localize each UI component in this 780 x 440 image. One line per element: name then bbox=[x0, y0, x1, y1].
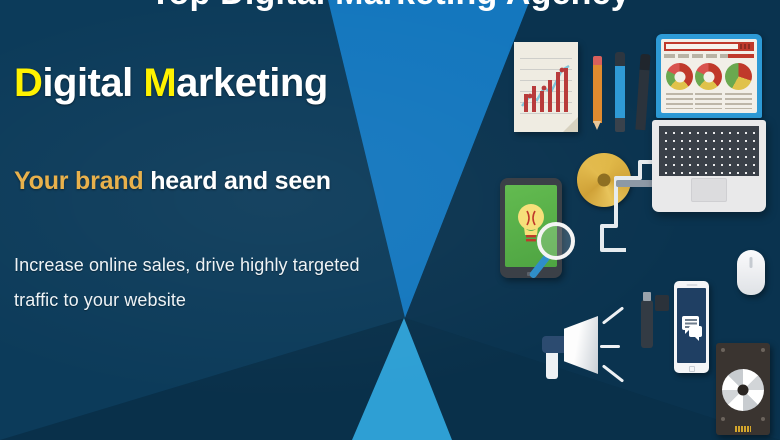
dashboard-text-3 bbox=[725, 93, 752, 109]
hdd-screw-tr bbox=[761, 348, 765, 352]
pencil-eraser bbox=[593, 56, 602, 65]
hdd-screw-br bbox=[761, 417, 765, 421]
megaphone-wave-2 bbox=[600, 345, 620, 348]
pencil-icon bbox=[593, 56, 602, 130]
blue-pen-end bbox=[615, 118, 625, 132]
black-pen-cap bbox=[640, 54, 651, 71]
banner-stage: Top Digital Marketing Agency Digital Mar… bbox=[0, 0, 780, 440]
laptop-keyboard bbox=[659, 126, 759, 176]
body-copy: Increase online sales, drive highly targ… bbox=[14, 248, 394, 318]
mouse-scroll-wheel bbox=[750, 257, 753, 268]
phone-home-button bbox=[689, 366, 695, 372]
body-line-1: Increase online sales, drive highly targ… bbox=[14, 248, 394, 283]
dashboard-toolbar-buttons bbox=[740, 44, 752, 49]
usb-cap-icon bbox=[655, 295, 669, 311]
magnifier-lens bbox=[537, 222, 575, 260]
magnifier-icon bbox=[537, 222, 585, 284]
title-part-1: igital bbox=[42, 61, 143, 105]
hdd-screw-tl bbox=[721, 348, 725, 352]
pie-chart-3 bbox=[725, 63, 752, 90]
title-highlight-m: M bbox=[143, 61, 176, 105]
usb-drive-icon bbox=[641, 300, 653, 348]
megaphone-wave-1 bbox=[602, 306, 624, 324]
laptop-trackpad bbox=[691, 178, 727, 202]
hdd-screw-bl bbox=[721, 417, 725, 421]
dashboard-text-blocks bbox=[665, 93, 753, 109]
megaphone-wave-3 bbox=[602, 364, 624, 382]
black-pen-body bbox=[635, 70, 649, 131]
blue-pen-icon bbox=[615, 52, 625, 132]
dashboard-url-field bbox=[666, 44, 738, 49]
usb-connector bbox=[643, 292, 651, 301]
chart-paper-icon bbox=[514, 42, 578, 132]
copy-block: Digital Marketing Your brand heard and s… bbox=[14, 62, 414, 318]
paper-bar-chart bbox=[522, 64, 570, 112]
hdd-platter bbox=[722, 369, 764, 411]
pencil-body bbox=[593, 65, 602, 123]
title-highlight-d: D bbox=[14, 61, 42, 105]
laptop-icon bbox=[652, 34, 766, 212]
laptop-lid bbox=[656, 34, 762, 118]
dashboard-address-bar bbox=[664, 42, 754, 51]
laptop-base bbox=[652, 120, 766, 212]
dashboard-nav-highlight bbox=[728, 54, 754, 58]
donut-chart-1 bbox=[666, 63, 693, 90]
hard-drive-icon bbox=[716, 343, 770, 435]
donut-chart-2 bbox=[695, 63, 722, 90]
page-title: Digital Marketing bbox=[14, 62, 414, 105]
pencil-tip bbox=[593, 121, 601, 130]
body-line-2: traffic to your website bbox=[14, 283, 394, 318]
megaphone-grip bbox=[546, 353, 558, 379]
megaphone-icon bbox=[538, 308, 624, 388]
subtitle: Your brand heard and seen bbox=[14, 167, 414, 196]
title-part-2: arketing bbox=[176, 61, 328, 105]
black-pen-icon bbox=[635, 54, 650, 131]
dashboard-text-1 bbox=[666, 93, 693, 109]
subtitle-gold: Your brand bbox=[14, 167, 150, 195]
dashboard-text-2 bbox=[695, 93, 722, 109]
laptop-screen bbox=[661, 39, 757, 113]
megaphone-cone bbox=[564, 316, 598, 374]
hdd-connector bbox=[735, 426, 751, 432]
chat-bubble-secondary bbox=[689, 326, 702, 337]
mouse-icon bbox=[737, 250, 765, 295]
blue-pen-body bbox=[615, 66, 625, 118]
smartphone-icon bbox=[674, 281, 709, 373]
phone-screen bbox=[677, 288, 706, 363]
blue-pen-cap bbox=[615, 52, 625, 66]
phone-speaker bbox=[686, 284, 697, 286]
subtitle-white: heard and seen bbox=[150, 167, 331, 195]
paper-corner-fold bbox=[563, 117, 578, 132]
dashboard-donut-charts bbox=[665, 63, 753, 93]
